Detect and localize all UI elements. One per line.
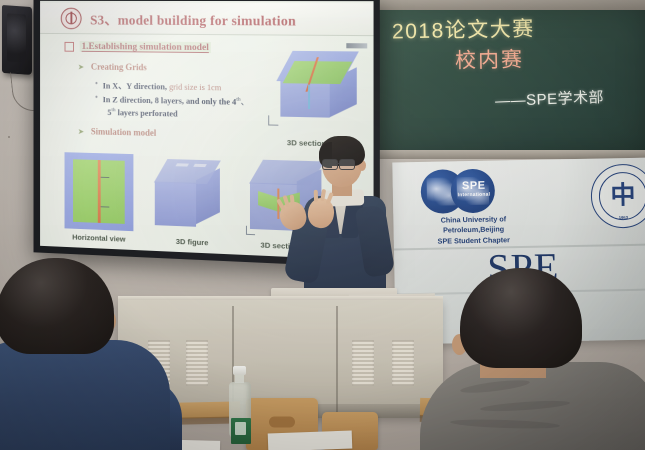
cube-top-marker	[175, 163, 189, 166]
sub2-mid: 、	[241, 98, 249, 107]
slide-section-heading: 1.Establishing simulation model	[65, 41, 211, 53]
slide-sub-bullet-1: • In X、Y direction, grid size is 1cm	[95, 79, 221, 93]
finger	[290, 195, 295, 207]
spe-logo-main: SPE	[451, 180, 497, 192]
slide-sub-bullet-2-cont-text: 5th layers perforated	[107, 107, 177, 118]
slide-sub-bullet-2-cont: 5th layers perforated	[107, 107, 177, 118]
shirt-fold	[460, 378, 531, 395]
cabinet-vent	[186, 340, 208, 386]
arrow-bullet-icon: ➤	[78, 62, 84, 71]
sectional-block	[276, 51, 361, 126]
slide-header: S3、model building for simulation	[40, 3, 373, 36]
slide-bullet-2-label: Simulation model	[91, 126, 156, 137]
chalk-line-2: 校内赛	[455, 43, 525, 74]
sub2-lead: In Z direction, 8 layers, and only the 4	[103, 95, 237, 106]
axis-indicator-icon	[246, 226, 255, 235]
slide-bullet-1: ➤ Creating Grids	[78, 62, 147, 73]
audience-left	[0, 258, 182, 450]
chalk-line-3: ——SPE学术部	[495, 86, 605, 111]
paper-sheet	[268, 431, 353, 450]
arrow-bullet-icon: ➤	[78, 127, 84, 136]
university-seal-icon	[61, 7, 82, 29]
cabinet-divider	[336, 306, 338, 414]
bottle-icon	[228, 366, 252, 438]
wellbore-line	[308, 85, 310, 109]
fracture-line	[98, 160, 100, 223]
slide-title: S3、model building for simulation	[90, 8, 296, 29]
figure-legend-bar	[346, 43, 367, 48]
shirt-fold	[450, 418, 560, 430]
finger	[314, 190, 318, 202]
glasses-icon	[322, 159, 356, 168]
wall-mark	[8, 136, 10, 138]
dot-bullet-icon: •	[95, 93, 98, 102]
speaker-icon	[2, 5, 32, 75]
cube-front-face	[155, 181, 196, 226]
china-university-of-petroleum-seal-icon: 中 1953	[590, 163, 645, 228]
bottle-label	[231, 418, 251, 444]
figure-horizontal-view: Horizontal view	[55, 148, 143, 253]
dot-bullet-icon: •	[95, 79, 98, 88]
slide-sub-bullet-2: • In Z direction, 8 layers, and only the…	[95, 93, 249, 108]
axis-indicator-icon	[268, 115, 278, 125]
figure-caption: 3D figure	[147, 236, 238, 249]
slide-section-label: 1.Establishing simulation model	[80, 41, 211, 53]
shirt-fold	[480, 399, 570, 413]
sub1-lead: In X、Y direction,	[103, 82, 167, 92]
pay-zone-layer	[283, 61, 353, 84]
sub1-tail: grid size is 1cm	[169, 83, 221, 93]
slide-sub-bullet-2-text: In Z direction, 8 layers, and only the 4…	[103, 93, 249, 108]
slide-bullet-2: ➤ Simulation model	[78, 126, 156, 138]
chair-handle-slot	[269, 416, 295, 427]
spe-logo-sub: International	[451, 191, 497, 198]
cube-top-marker	[193, 164, 207, 167]
audience-left-sweater	[0, 340, 170, 450]
cabinet-vent	[392, 340, 414, 386]
cabinet-vent	[352, 340, 374, 386]
seal-year: 1953	[619, 215, 628, 220]
bottle-cap	[233, 366, 246, 375]
bottle-body	[229, 382, 251, 438]
audience-left-hair	[0, 258, 114, 354]
glasses-bridge	[336, 163, 340, 164]
block-front-face	[280, 80, 329, 118]
audience-right	[418, 286, 645, 450]
lecture-hall-photo: 2018论文大赛 校内赛 ——SPE学术部 SPE International …	[0, 0, 645, 450]
bottle-neck	[235, 375, 244, 383]
seal-monogram: 中	[610, 183, 635, 208]
figure-caption: Horizontal view	[55, 232, 143, 245]
sub2-tail: layers perforated	[116, 108, 178, 118]
banner-organization: China University of Petroleum,Beijing SP…	[411, 214, 536, 248]
chalk-line-1: 2018论文大赛	[392, 13, 535, 46]
slide-sub-bullet-1-text: In X、Y direction, grid size is 1cm	[103, 80, 222, 94]
grid-outer-boundary	[65, 152, 134, 231]
spe-globe-logo-icon: SPE International	[420, 168, 525, 214]
blackboard-top-rail	[370, 0, 645, 10]
checkbox-icon	[65, 41, 74, 51]
slide-bullet-1-label: Creating Grids	[91, 62, 147, 73]
spe-logo-text: SPE International	[451, 180, 497, 198]
audience-right-hair	[460, 268, 582, 368]
figure-3d-cube: 3D figure	[147, 151, 238, 258]
